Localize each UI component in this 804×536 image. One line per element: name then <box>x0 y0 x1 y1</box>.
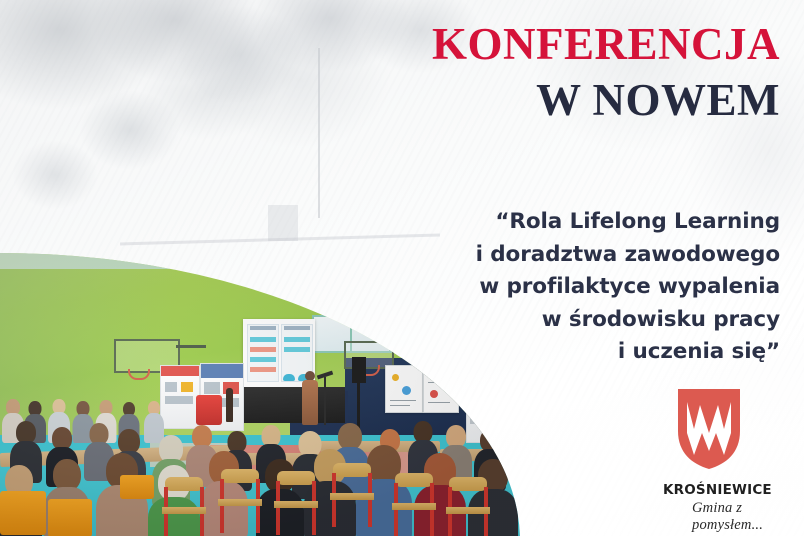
chair-red-frame <box>446 477 490 536</box>
page-title: KONFERENCJA W NOWEM <box>432 22 780 123</box>
chair-orange <box>48 499 92 536</box>
quote-line-3: w profilaktyce wypalenia <box>450 271 780 304</box>
stage-table <box>240 387 345 423</box>
municipality-tagline: Gmina z pomysłem... <box>692 500 804 534</box>
title-line-konferencja: KONFERENCJA <box>432 22 780 67</box>
red-equipment-case <box>196 395 222 425</box>
coat-of-arms-shield-icon <box>678 389 740 469</box>
chair-orange <box>0 491 46 535</box>
municipality-name: KROŚNIEWICE <box>663 482 772 498</box>
flipchart-left <box>385 365 423 413</box>
microphone-stand <box>324 377 326 425</box>
rollup-banner-1 <box>160 365 200 429</box>
quote-line-1: “Rola Lifelong Learning <box>450 206 780 239</box>
background-building-box <box>268 205 298 241</box>
slide-car-icon-a <box>283 374 295 381</box>
background-pole <box>318 48 320 218</box>
chair-red-frame <box>218 469 262 533</box>
slide-column-left <box>247 324 279 382</box>
bottle <box>226 388 233 422</box>
title-line-w-nowem: W NOWEM <box>432 78 780 123</box>
speaker-person <box>302 371 318 425</box>
chair-red-frame <box>330 463 374 527</box>
chair-red-frame <box>392 473 436 536</box>
basketball-hoop-arm <box>176 345 206 348</box>
loudspeaker-right <box>352 357 366 383</box>
background-roofline <box>120 234 440 246</box>
quote-line-5: i uczenia się” <box>450 336 780 369</box>
quote-line-2: i doradztwa zawodowego <box>450 239 780 272</box>
conference-poster: KONFERENCJA W NOWEM “Rola Lifelong Learn… <box>0 0 804 536</box>
conference-subject-quote: “Rola Lifelong Learning i doradztwa zawo… <box>450 206 780 369</box>
chair-orange <box>120 475 154 499</box>
chair-red-frame <box>274 471 318 535</box>
quote-line-4: w środowisku pracy <box>450 304 780 337</box>
chair-red-frame <box>162 477 206 536</box>
